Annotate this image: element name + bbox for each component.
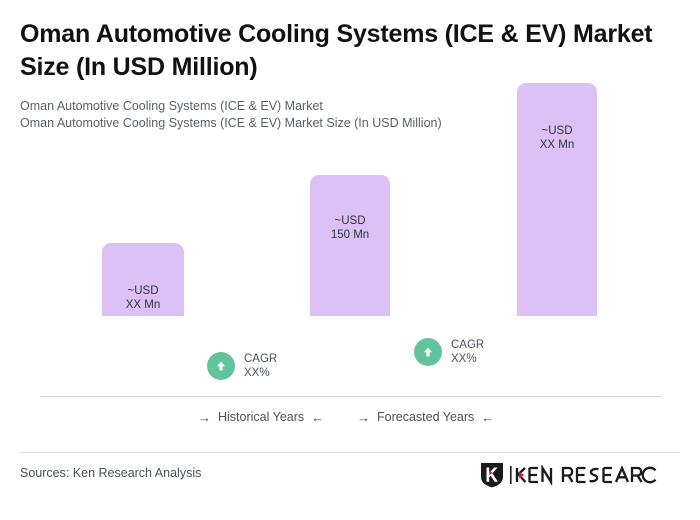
chart-baseline <box>40 396 662 397</box>
footer-divider <box>20 452 680 453</box>
bar-3-value-line2: XX Mn <box>517 138 597 152</box>
bar-3 <box>517 83 597 316</box>
arrow-right-icon: → <box>357 411 370 424</box>
chart-page: Oman Automotive Cooling Systems (ICE & E… <box>0 0 700 520</box>
bar-3-value-line1: ~USD <box>517 124 597 138</box>
arrow-left-icon: ← <box>311 411 324 424</box>
bar-3-value-label: ~USD XX Mn <box>517 124 597 152</box>
bar-2-value-label: ~USD 150 Mn <box>310 214 390 242</box>
cagr-badge-1: CAGR XX% <box>207 352 277 380</box>
bar-1-value-line2: XX Mn <box>102 298 184 312</box>
forecasted-years-text: Forecasted Years <box>377 410 474 424</box>
shield-icon <box>480 462 504 488</box>
forecasted-years-label: → Forecasted Years ← <box>357 410 494 424</box>
chart-plot-area: ~USD XX Mn ~USD 150 Mn ~USD XX Mn CAGR X… <box>0 0 700 440</box>
sources-text: Sources: Ken Research Analysis <box>20 466 201 480</box>
bar-1-value-line1: ~USD <box>102 284 184 298</box>
brand-wordmark <box>510 465 660 485</box>
bar-2-value-line2: 150 Mn <box>310 228 390 242</box>
arrow-left-icon: ← <box>481 411 494 424</box>
historical-years-label: → Historical Years ← <box>198 410 324 424</box>
bar-1-value-label: ~USD XX Mn <box>102 284 184 312</box>
arrow-up-icon <box>207 352 235 380</box>
cagr-badge-1-line2: XX% <box>244 367 270 379</box>
bar-2-value-line1: ~USD <box>310 214 390 228</box>
cagr-badge-2-line1: CAGR <box>451 339 484 351</box>
historical-years-text: Historical Years <box>218 410 304 424</box>
cagr-badge-2-text: CAGR XX% <box>451 338 484 366</box>
arrow-right-icon: → <box>198 411 211 424</box>
arrow-up-icon <box>414 338 442 366</box>
cagr-badge-2-line2: XX% <box>451 353 477 365</box>
bar-2 <box>310 175 390 316</box>
ken-research-logo <box>480 462 660 488</box>
cagr-badge-1-text: CAGR XX% <box>244 352 277 380</box>
cagr-badge-2: CAGR XX% <box>414 338 484 366</box>
cagr-badge-1-line1: CAGR <box>244 353 277 365</box>
